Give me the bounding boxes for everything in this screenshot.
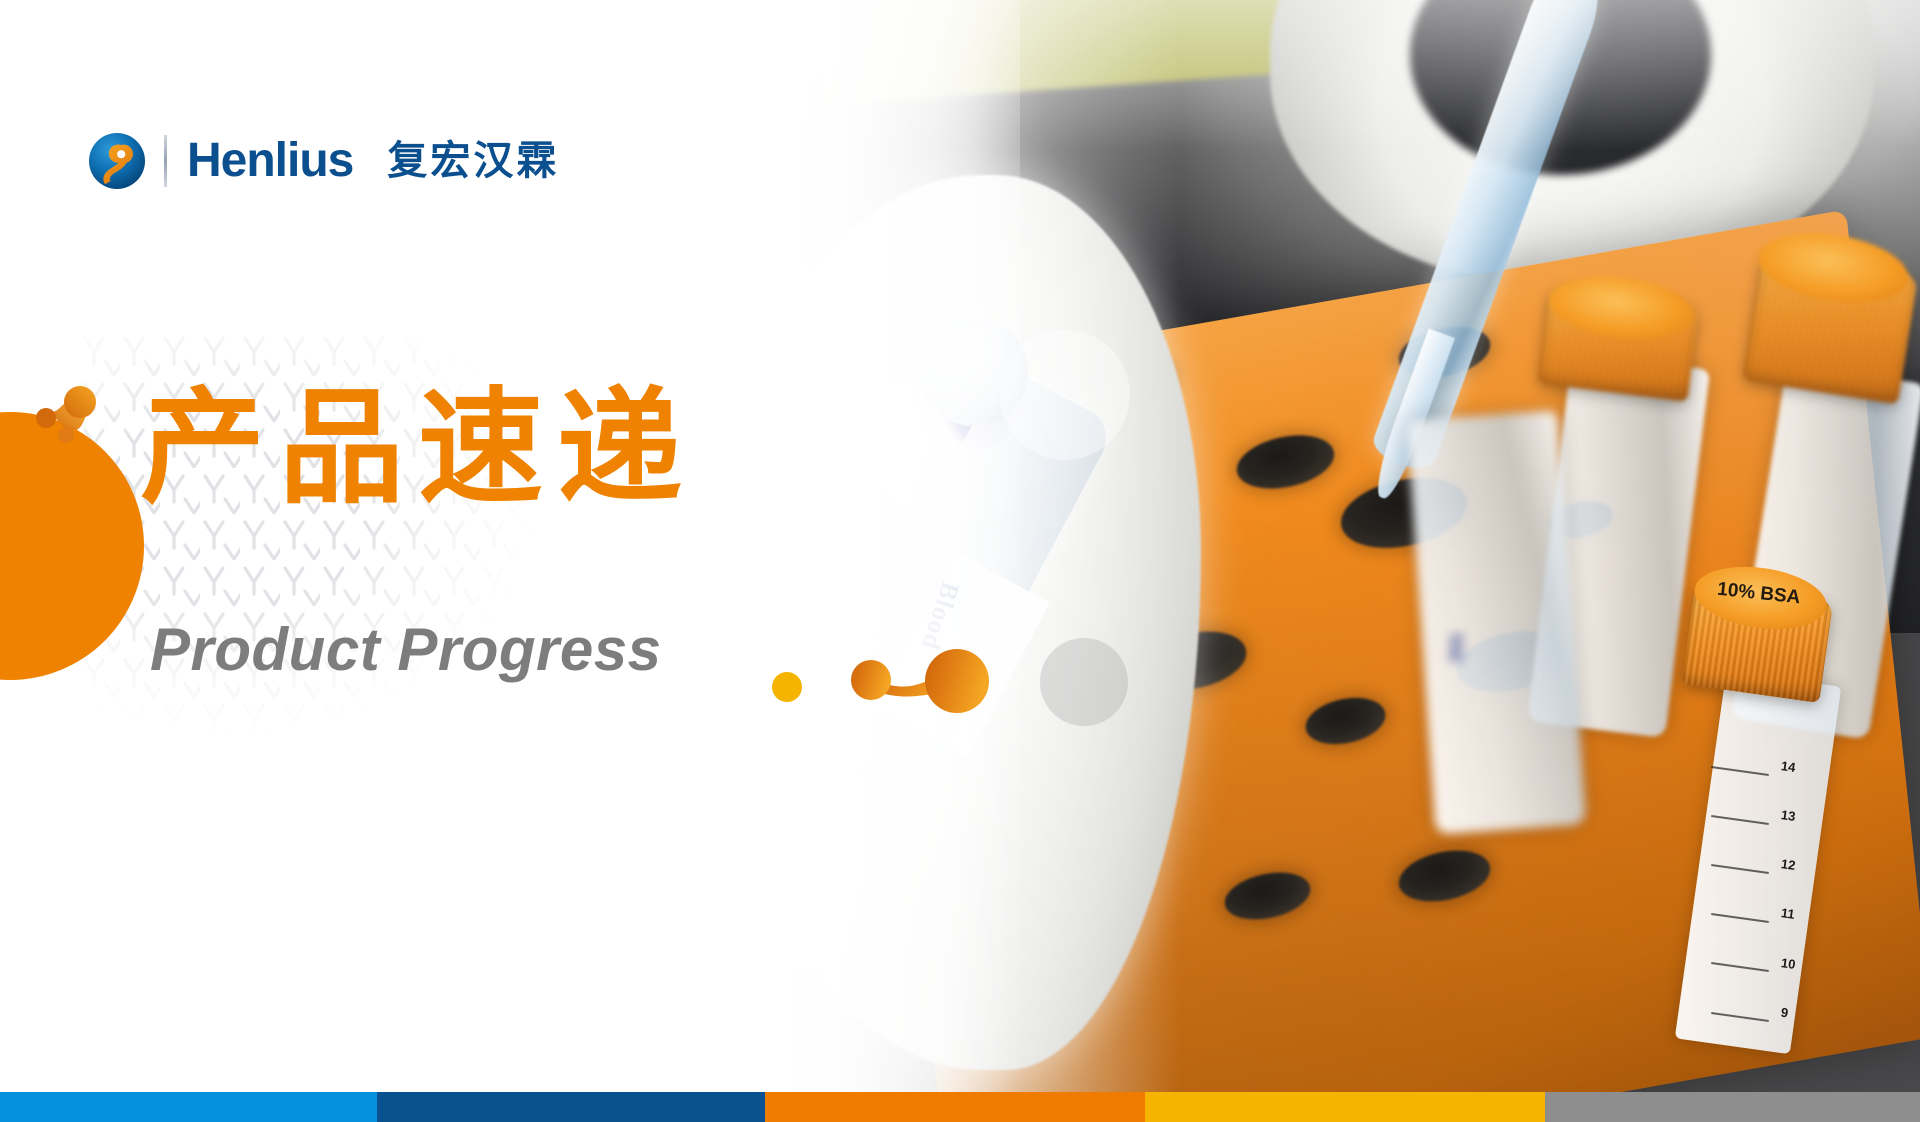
ghost-circle-lower	[1040, 638, 1128, 726]
amber-dot-decoration	[772, 672, 802, 702]
graduation-number: 12	[1780, 856, 1796, 873]
graduation-number: 10	[1780, 955, 1796, 972]
graduation-number: 14	[1780, 758, 1796, 775]
graduation-number: 13	[1780, 807, 1796, 824]
segment-light-blue	[0, 1092, 377, 1122]
henlius-logo-mark	[88, 132, 146, 190]
logo-chinese-name: 复宏汉霖	[387, 141, 559, 181]
logo-wordmark: Henlius	[187, 137, 353, 185]
segment-yellow	[1145, 1092, 1545, 1122]
clear-tube-label: 试剂	[1444, 633, 1465, 663]
page-title: 产品速递	[140, 383, 696, 514]
clear-tube	[1407, 410, 1586, 834]
page-subtitle: Product Progress	[150, 620, 661, 680]
photo-canvas: Blood 试剂 10% BSA 14 13 12 11	[760, 0, 1920, 1092]
molecule-decoration-small	[22, 380, 132, 475]
graduation-number: 11	[1780, 905, 1796, 922]
segment-dark-blue	[377, 1092, 765, 1122]
presentation-slide: Blood 试剂 10% BSA 14 13 12 11	[0, 0, 1920, 1122]
henlius-logo[interactable]: Henlius 复宏汉霖	[88, 132, 559, 190]
segment-orange	[765, 1092, 1145, 1122]
ghost-circle-upper	[1000, 330, 1130, 460]
bottom-color-bar	[0, 1092, 1920, 1122]
laboratory-photo: Blood 试剂 10% BSA 14 13 12 11	[760, 0, 1920, 1092]
segment-gray	[1545, 1092, 1920, 1122]
logo-divider	[164, 135, 167, 187]
molecule-decoration-large	[845, 638, 1005, 723]
